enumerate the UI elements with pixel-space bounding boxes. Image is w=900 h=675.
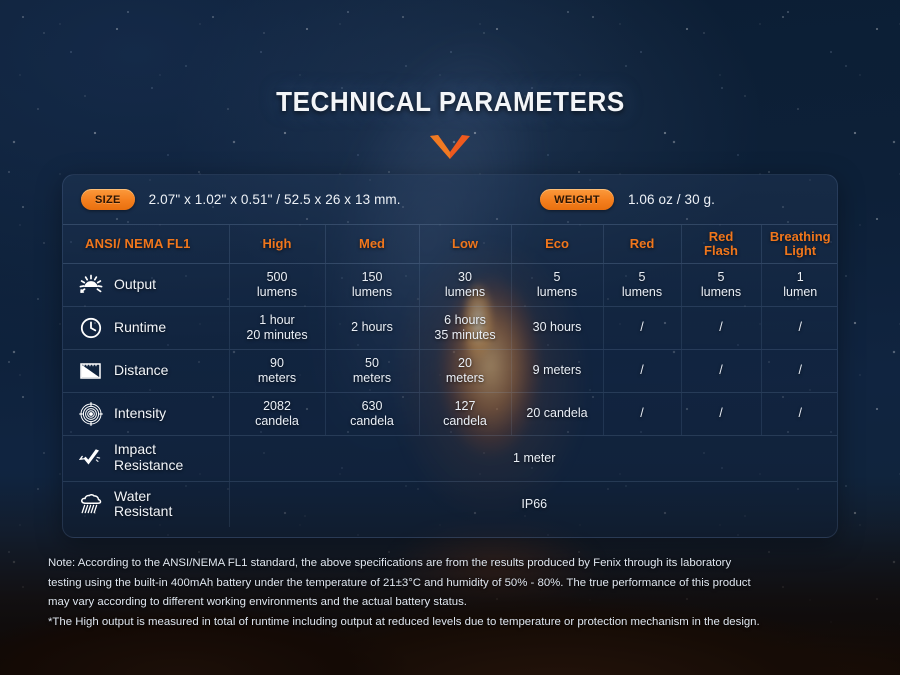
weight-value: 1.06 oz / 30 g. — [628, 192, 715, 207]
cell-intensity-red-flash: / — [681, 392, 761, 435]
cell-runtime-red-flash: / — [681, 306, 761, 349]
cell-line2: lumen — [783, 285, 817, 299]
cell-line1: 30 — [458, 270, 472, 284]
header-standard: ANSI/ NEMA FL1 — [63, 225, 229, 263]
footnote-line-3: may vary according to different working … — [48, 593, 856, 613]
cell-output-red: 5 lumens — [603, 263, 681, 306]
cell-line2: 20 minutes — [246, 328, 307, 342]
size-value: 2.07" x 1.02" x 0.51" / 52.5 x 26 x 13 m… — [149, 192, 401, 207]
cell-line1: 1 hour — [259, 313, 294, 327]
specifications-table: ANSI/ NEMA FL1 High Med Low Eco Red Red … — [63, 225, 838, 527]
cell-line2: lumens — [701, 285, 741, 299]
cell-output-high: 500 lumens — [229, 263, 325, 306]
cell-distance-red-flash: / — [681, 349, 761, 392]
weight-group: WEIGHT 1.06 oz / 30 g. — [540, 189, 837, 210]
cell-water-resistant-value: IP66 — [229, 481, 838, 527]
cell-intensity-red: / — [603, 392, 681, 435]
cell-distance-low: 20 meters — [419, 349, 511, 392]
water-label-line2: Resistant — [114, 503, 172, 519]
footnote-line-4: *The High output is measured in total of… — [48, 613, 856, 633]
beam-distance-icon — [79, 359, 103, 383]
row-label-output: Output — [63, 263, 229, 306]
panel-meta-bar: SIZE 2.07" x 1.02" x 0.51" / 52.5 x 26 x… — [63, 175, 837, 225]
header-red: Red — [603, 225, 681, 263]
cell-intensity-high: 2082 candela — [229, 392, 325, 435]
row-label-output-text: Output — [114, 276, 156, 293]
table-header-row: ANSI/ NEMA FL1 High Med Low Eco Red Red … — [63, 225, 838, 263]
table-row: Intensity 2082 candela 630 candela 127 c… — [63, 392, 838, 435]
cell-line2: lumens — [352, 285, 392, 299]
table-row: Impact Resistance 1 meter — [63, 435, 838, 481]
cell-line1: 127 — [455, 399, 476, 413]
footnote-line-1: Note: According to the ANSI/NEMA FL1 sta… — [48, 554, 856, 574]
header-red-flash-line1: Red — [709, 229, 734, 244]
header-breathing-light: Breathing Light — [761, 225, 838, 263]
table-row: Water Resistant IP66 — [63, 481, 838, 527]
cell-line1: 20 — [458, 356, 472, 370]
cell-output-low: 30 lumens — [419, 263, 511, 306]
cell-distance-med: 50 meters — [325, 349, 419, 392]
cell-line2: lumens — [537, 285, 577, 299]
cell-runtime-eco: 30 hours — [511, 306, 603, 349]
header-med: Med — [325, 225, 419, 263]
cell-runtime-low: 6 hours 35 minutes — [419, 306, 511, 349]
cell-line2: candela — [255, 414, 299, 428]
size-badge: SIZE — [81, 189, 135, 210]
cell-line1: 1 — [797, 270, 804, 284]
cell-runtime-breathing: / — [761, 306, 838, 349]
spec-panel: SIZE 2.07" x 1.02" x 0.51" / 52.5 x 26 x… — [62, 174, 838, 538]
cell-line2: lumens — [445, 285, 485, 299]
chevron-down-icon — [0, 134, 900, 160]
cell-line1: 5 — [554, 270, 561, 284]
cell-line1: 150 — [362, 270, 383, 284]
cell-impact-resistance-value: 1 meter — [229, 435, 838, 481]
impact-resistance-icon — [79, 446, 103, 470]
cell-output-eco: 5 lumens — [511, 263, 603, 306]
cell-intensity-med: 630 candela — [325, 392, 419, 435]
cell-line2: candela — [443, 414, 487, 428]
cell-output-red-flash: 5 lumens — [681, 263, 761, 306]
cell-distance-breathing: / — [761, 349, 838, 392]
row-label-impact-lines: Impact Resistance — [114, 442, 183, 473]
cell-output-breathing: 1 lumen — [761, 263, 838, 306]
cell-intensity-low: 127 candela — [419, 392, 511, 435]
header-red-flash-line2: Flash — [704, 243, 738, 258]
cell-intensity-eco: 20 candela — [511, 392, 603, 435]
cell-distance-high: 90 meters — [229, 349, 325, 392]
cell-distance-red: / — [603, 349, 681, 392]
cell-line1: 500 — [267, 270, 288, 284]
page-title: TECHNICAL PARAMETERS — [276, 86, 625, 118]
weight-badge: WEIGHT — [540, 189, 614, 210]
header-breathing-line1: Breathing — [770, 229, 831, 244]
cell-runtime-med: 2 hours — [325, 306, 419, 349]
row-label-impact-resistance: Impact Resistance — [63, 435, 229, 481]
cell-line2: candela — [350, 414, 394, 428]
cell-line1: 5 — [639, 270, 646, 284]
cell-line1: 6 hours — [444, 313, 486, 327]
impact-label-line2: Resistance — [114, 457, 183, 473]
cell-line2: lumens — [257, 285, 297, 299]
header-low: Low — [419, 225, 511, 263]
page-title-block: TECHNICAL PARAMETERS — [0, 86, 900, 160]
row-label-runtime-text: Runtime — [114, 319, 166, 336]
table-row: Runtime 1 hour 20 minutes 2 hours 6 hour… — [63, 306, 838, 349]
row-label-runtime: Runtime — [63, 306, 229, 349]
cell-runtime-high: 1 hour 20 minutes — [229, 306, 325, 349]
row-label-intensity-text: Intensity — [114, 405, 166, 422]
water-resistant-icon — [79, 492, 103, 516]
row-label-distance-text: Distance — [114, 362, 168, 379]
table-row: Output 500 lumens 150 lumens 30 lumens 5 — [63, 263, 838, 306]
row-label-distance: Distance — [63, 349, 229, 392]
cell-line2: meters — [353, 371, 391, 385]
row-label-water-resistant: Water Resistant — [63, 481, 229, 527]
cell-runtime-red: / — [603, 306, 681, 349]
row-label-water-lines: Water Resistant — [114, 489, 172, 520]
footnote-line-2: testing using the built-in 400mAh batter… — [48, 574, 856, 594]
target-intensity-icon — [79, 402, 103, 426]
water-label-line1: Water — [114, 488, 151, 504]
cell-output-med: 150 lumens — [325, 263, 419, 306]
sunburst-icon — [79, 273, 103, 297]
header-breathing-line2: Light — [784, 243, 816, 258]
cell-intensity-breathing: / — [761, 392, 838, 435]
cell-line2: meters — [258, 371, 296, 385]
header-eco: Eco — [511, 225, 603, 263]
footnotes: Note: According to the ANSI/NEMA FL1 sta… — [48, 554, 856, 632]
impact-label-line1: Impact — [114, 441, 156, 457]
header-red-flash: Red Flash — [681, 225, 761, 263]
cell-line1: 90 — [270, 356, 284, 370]
cell-line2: lumens — [622, 285, 662, 299]
header-high: High — [229, 225, 325, 263]
cell-line1: 50 — [365, 356, 379, 370]
cell-line2: meters — [446, 371, 484, 385]
clock-icon — [79, 316, 103, 340]
cell-line1: 5 — [718, 270, 725, 284]
cell-distance-eco: 9 meters — [511, 349, 603, 392]
table-row: Distance 90 meters 50 meters 20 meters 9… — [63, 349, 838, 392]
cell-line1: 630 — [362, 399, 383, 413]
cell-line1: 2082 — [263, 399, 291, 413]
cell-line2: 35 minutes — [434, 328, 495, 342]
row-label-intensity: Intensity — [63, 392, 229, 435]
